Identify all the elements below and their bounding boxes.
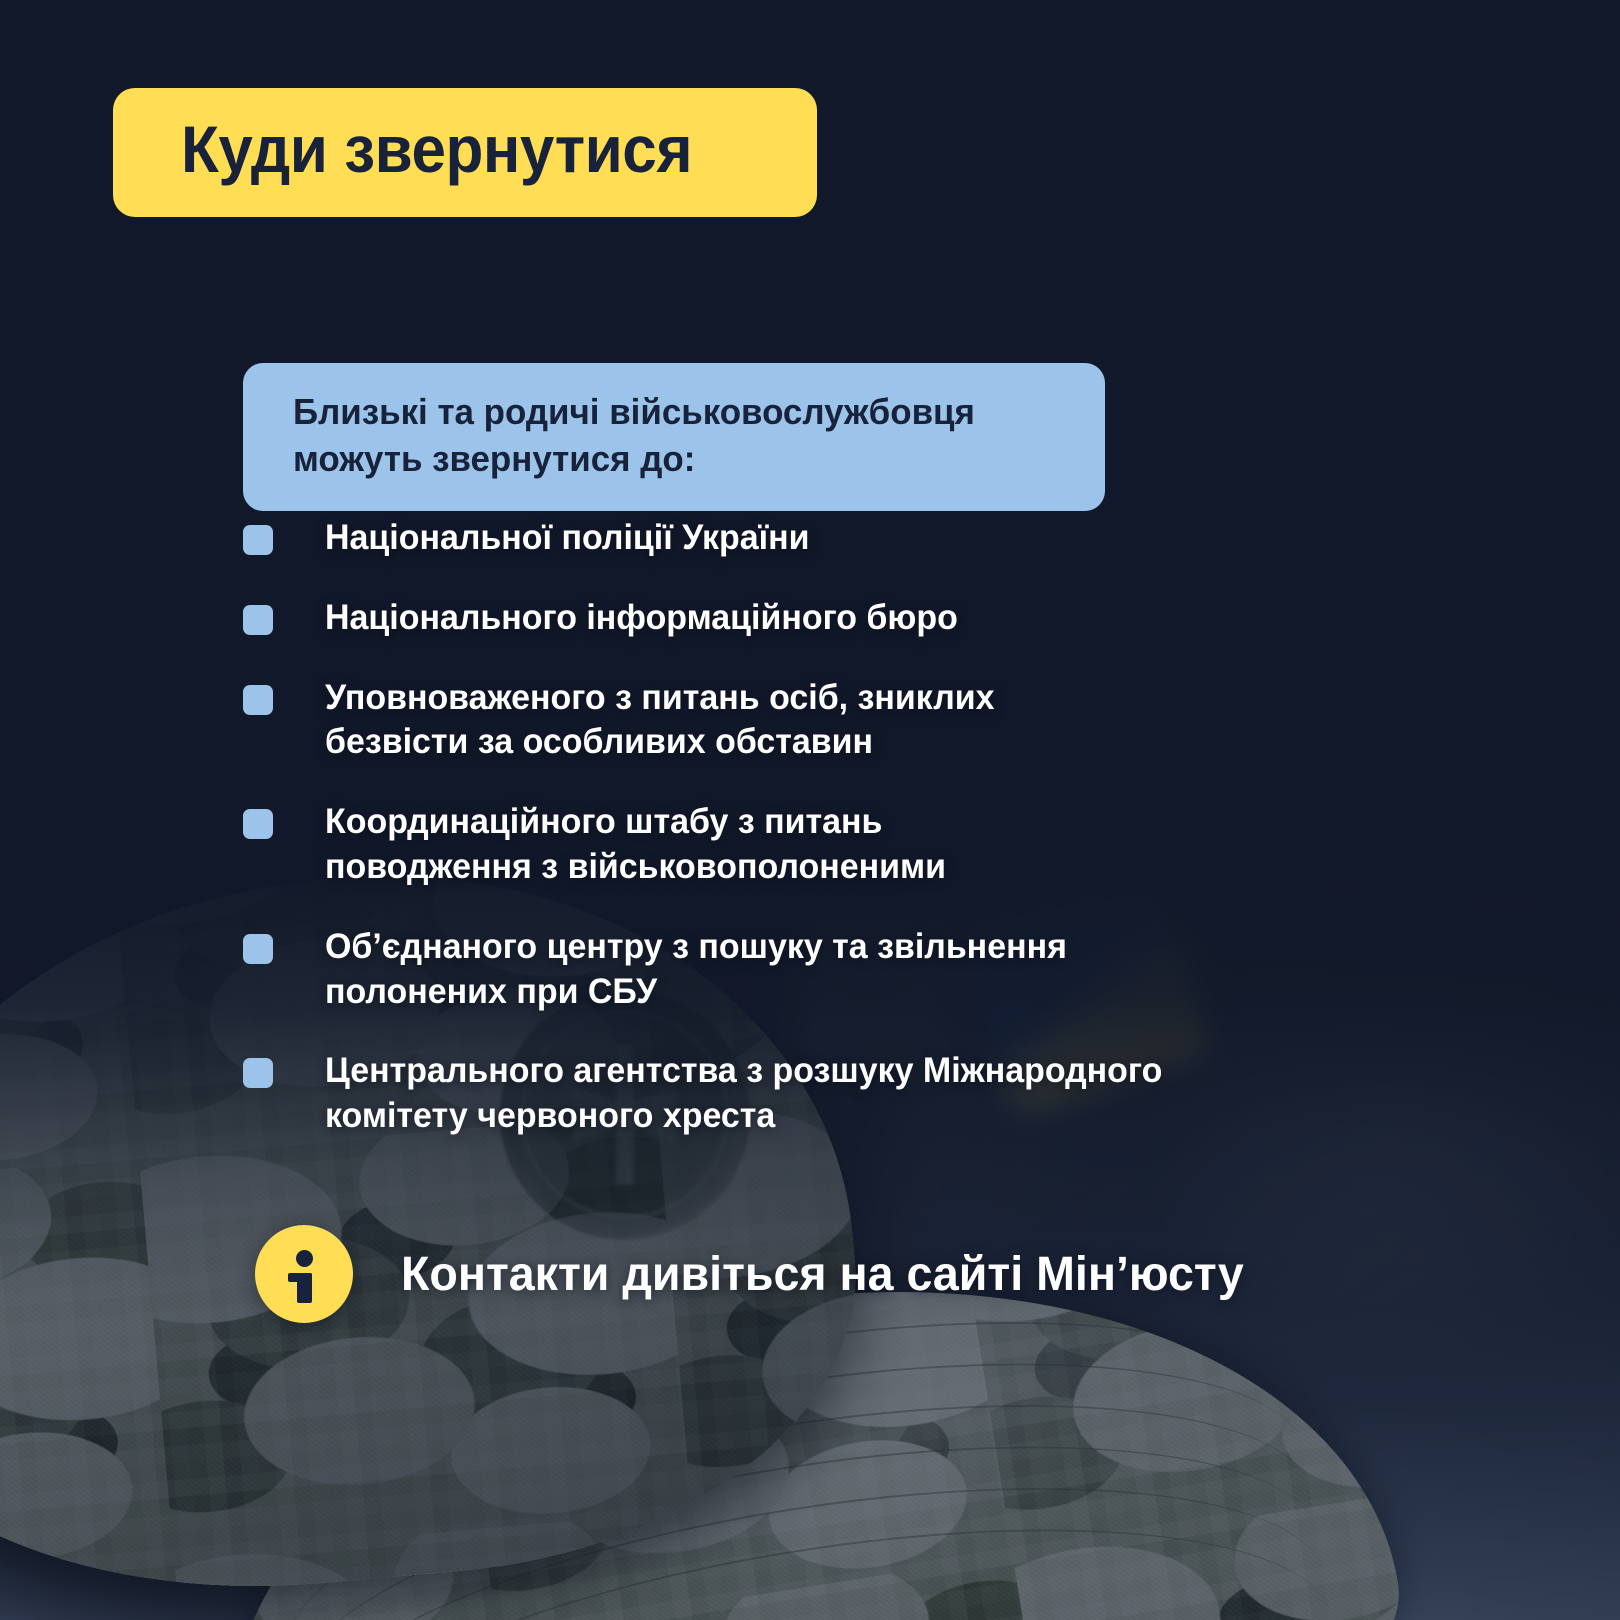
info-icon-foot bbox=[288, 1273, 312, 1282]
footer-note: Контакти дивіться на сайті Мін’юсту bbox=[255, 1225, 1270, 1323]
info-icon bbox=[255, 1225, 353, 1323]
page-title: Куди звернутися bbox=[181, 116, 719, 183]
bullet-square-icon bbox=[243, 605, 273, 635]
subtitle-card: Близькі та родичі військовослужбовця мож… bbox=[243, 363, 1105, 511]
list-item: Об’єднаного центру з пошуку та звільненн… bbox=[243, 925, 1563, 1015]
list-item: Центрального агентства з розшуку Міжнаро… bbox=[243, 1049, 1563, 1139]
footer-label: Контакти дивіться на сайті Мін’юсту bbox=[401, 1247, 1244, 1302]
list-item-label: Центрального агентства з розшуку Міжнаро… bbox=[325, 1049, 1179, 1139]
list-item: Координаційного штабу з питань поводженн… bbox=[243, 800, 1563, 890]
bullet-square-icon bbox=[243, 1058, 273, 1088]
bullet-square-icon bbox=[243, 685, 273, 715]
info-icon-dot bbox=[296, 1250, 313, 1267]
bullet-square-icon bbox=[243, 809, 273, 839]
list-item-label: Об’єднаного центру з пошуку та звільненн… bbox=[325, 925, 1232, 1015]
bullet-square-icon bbox=[243, 525, 273, 555]
list-item-label: Уповноваженого з питань осіб, зниклих бе… bbox=[325, 676, 1130, 766]
authority-list: Національної поліції України Національно… bbox=[243, 516, 1563, 1139]
subtitle-line-2: можуть звернутися до: bbox=[293, 436, 1048, 483]
list-item: Національного інформаційного бюро bbox=[243, 596, 1563, 641]
infographic-content: Куди звернутися Близькі та родичі військ… bbox=[0, 0, 1620, 1620]
list-item: Національної поліції України bbox=[243, 516, 1563, 561]
bullet-square-icon bbox=[243, 934, 273, 964]
list-item-label: Національної поліції України bbox=[325, 516, 810, 561]
list-item-label: Координаційного штабу з питань поводженн… bbox=[325, 800, 1062, 890]
title-badge: Куди звернутися bbox=[113, 88, 817, 217]
list-item-label: Національного інформаційного бюро bbox=[325, 596, 958, 641]
list-item: Уповноваженого з питань осіб, зниклих бе… bbox=[243, 676, 1563, 766]
subtitle-line-1: Близькі та родичі військовослужбовця bbox=[293, 389, 1048, 436]
